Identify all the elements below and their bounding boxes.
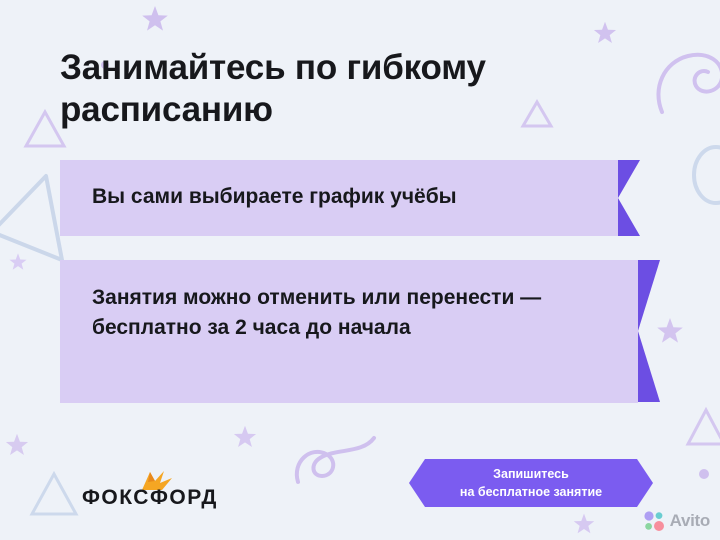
dot-icon: [698, 468, 710, 480]
star-icon: [140, 4, 170, 34]
cta-line-2: на бесплатное занятие: [460, 483, 602, 501]
foxford-logo-text: ФОКСФОРД: [82, 486, 218, 510]
star-icon: [8, 252, 28, 272]
slide-canvas: Занимайтесь по гибкому расписанию Вы сам…: [0, 0, 720, 540]
avito-watermark-text: Avito: [670, 511, 710, 531]
cta-ribbon-button[interactable]: Запишитесь на бесплатное занятие: [425, 459, 637, 507]
benefit-card-2-text: Занятия можно отменить или перенести — б…: [92, 283, 614, 343]
triangle-icon: [0, 170, 68, 270]
star-icon: [232, 424, 258, 450]
benefit-card-2: Занятия можно отменить или перенести — б…: [60, 260, 638, 403]
benefit-card-1: Вы сами выбираете график учёбы: [60, 160, 618, 236]
avito-watermark: Avito: [643, 510, 710, 532]
card-tail-icon: [618, 160, 640, 236]
triangle-icon: [28, 470, 80, 518]
star-icon: [4, 432, 30, 458]
page-title: Занимайтесь по гибкому расписанию: [60, 47, 660, 130]
card-tail-icon: [638, 260, 660, 402]
benefit-card-1-text: Вы сами выбираете график учёбы: [92, 182, 594, 212]
cta-line-1: Запишитесь: [493, 465, 569, 483]
swirl-icon: [292, 428, 382, 490]
star-icon: [572, 512, 596, 536]
avito-logo-icon: [643, 510, 665, 532]
foxford-logo: ФОКСФОРД: [82, 470, 262, 510]
circle-outline-icon: [686, 142, 720, 208]
swirl-icon: [650, 28, 720, 116]
star-icon: [592, 20, 618, 46]
triangle-icon: [684, 406, 720, 448]
